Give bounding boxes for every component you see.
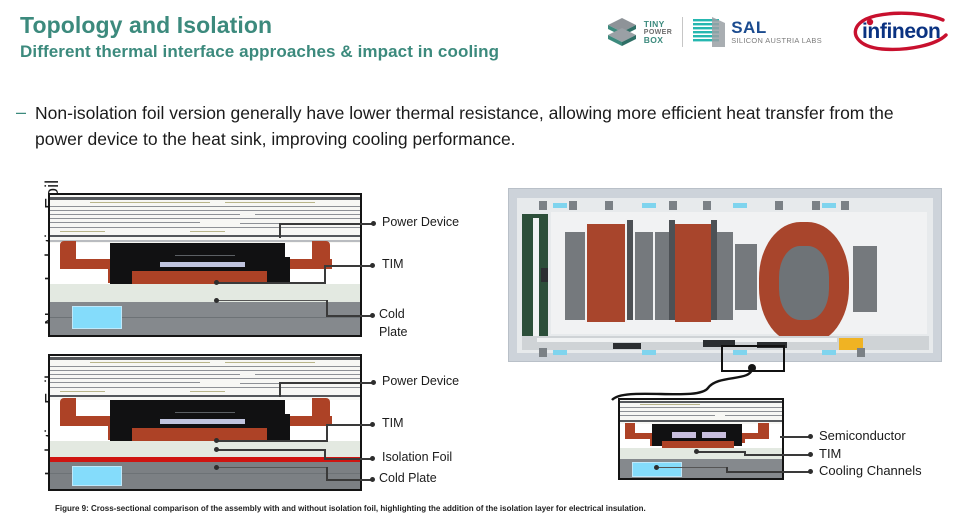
pcb-trace xyxy=(50,197,360,200)
label-cold-plate: Cold Plate xyxy=(379,471,437,486)
cross-section-non-isolation xyxy=(48,193,362,337)
label-power-device: Power Device xyxy=(382,215,459,230)
figure-isolation: Isolation Foil Pow xyxy=(0,348,500,498)
power-device-die xyxy=(265,257,290,285)
leader-line-power-device xyxy=(279,382,281,397)
pcb-trace xyxy=(50,210,360,211)
ct-marker xyxy=(642,350,656,355)
leader-dot xyxy=(694,449,699,454)
tpb-line-3: BOX xyxy=(644,36,672,45)
leader-dot xyxy=(370,422,375,427)
leader-dot xyxy=(214,280,219,285)
pcb-trace xyxy=(90,202,210,203)
infineon-logo: infineon xyxy=(848,11,952,53)
internal-hairline xyxy=(175,255,235,256)
leader-line-cold-plate xyxy=(326,479,372,481)
infineon-wordmark: infineon xyxy=(862,20,940,44)
tpb-line-1: TINY xyxy=(644,20,672,29)
leader-dot xyxy=(371,221,376,226)
pcb-trace xyxy=(620,420,782,422)
pcb-trace xyxy=(50,370,360,371)
ct-fin xyxy=(853,246,877,312)
leader-dot xyxy=(214,465,219,470)
pcb-trace xyxy=(50,366,360,367)
label-plate: Plate xyxy=(379,325,408,340)
leader-line-power-device xyxy=(279,382,374,384)
figure-detail-callout: Semiconductor TIM Cooling Channels xyxy=(610,398,960,493)
pcb-trace xyxy=(620,407,782,408)
ct-marker xyxy=(822,350,836,355)
leader-dot xyxy=(808,434,813,439)
pcb-trace xyxy=(640,404,700,405)
stacked-box-icon xyxy=(605,15,639,49)
leader-dot xyxy=(214,438,219,443)
label-tim: TIM xyxy=(382,257,404,272)
pcb-trace xyxy=(620,415,715,416)
leader-line-tim xyxy=(324,265,326,284)
cooling-channel xyxy=(72,466,122,486)
label-isolation-foil: Isolation Foil xyxy=(382,450,452,465)
pcb-trace xyxy=(50,374,240,375)
page-subtitle: Different thermal interface approaches &… xyxy=(20,42,499,62)
bullet-row: – Non-isolation foil version generally h… xyxy=(16,100,946,152)
logo-bar: TINY POWER BOX SAL SILICON AUSTRIA LABS xyxy=(605,9,952,55)
power-device-die xyxy=(110,257,132,285)
ct-fin xyxy=(655,232,669,320)
ct-fin xyxy=(717,232,733,320)
pcb-trace xyxy=(620,411,782,412)
figure-non-isolation: Non- Isolation Foil xyxy=(0,175,500,340)
pcb-trace xyxy=(225,362,315,363)
page-title: Topology and Isolation xyxy=(20,12,272,39)
label-tim: TIM xyxy=(382,416,404,431)
leader-line-tim xyxy=(326,424,372,426)
pcb-trace xyxy=(190,391,225,392)
pcb-trace xyxy=(50,395,360,397)
label-cooling-channels: Cooling Channels xyxy=(819,463,922,478)
pcb-trace xyxy=(255,214,360,215)
pcb-trace xyxy=(255,374,360,375)
label-tim: TIM xyxy=(819,446,841,461)
bullet-text: Non-isolation foil version generally hav… xyxy=(35,100,946,152)
ct-scan-image xyxy=(508,188,942,362)
ct-tick xyxy=(539,201,547,210)
ct-tick xyxy=(857,348,865,357)
label-semiconductor: Semiconductor xyxy=(819,428,906,443)
leader-dot xyxy=(371,380,376,385)
ct-tick xyxy=(812,201,820,210)
ct-marker xyxy=(553,350,567,355)
internal-hairline xyxy=(175,412,235,413)
pcb-trace xyxy=(50,206,360,207)
pcb-trace xyxy=(50,222,200,223)
leader-line-cold-plate xyxy=(218,300,328,301)
pcb-trace xyxy=(190,231,225,232)
ct-tick xyxy=(569,201,577,210)
solder-layer xyxy=(672,432,696,438)
leader-line-cooling-channels xyxy=(658,467,728,468)
leader-dot xyxy=(370,313,375,318)
baseplate-copper xyxy=(662,441,734,448)
ct-tick xyxy=(703,201,711,210)
pcb-trace xyxy=(90,362,210,363)
ct-toroid-core xyxy=(779,246,829,320)
ct-marker xyxy=(733,203,747,208)
power-device-die xyxy=(265,414,290,442)
leader-line-tim xyxy=(698,451,746,453)
ct-connector xyxy=(533,218,539,336)
ct-fin xyxy=(635,232,653,320)
pcb-trace xyxy=(50,235,360,237)
sal-tagline: SILICON AUSTRIA LABS xyxy=(731,37,822,45)
leader-line-isolation-foil xyxy=(218,449,326,451)
ct-marker xyxy=(822,203,836,208)
leader-line-semiconductor xyxy=(780,436,810,438)
pcb-trace xyxy=(620,401,782,403)
leader-line-tim xyxy=(218,282,326,284)
pcb-trace xyxy=(50,378,360,379)
leader-dot xyxy=(214,298,219,303)
ct-fin xyxy=(627,220,633,320)
pcb-trace xyxy=(50,227,360,228)
leader-line-cold-plate xyxy=(326,315,372,317)
leader-dot xyxy=(370,477,375,482)
leader-dot xyxy=(370,263,375,268)
tiny-power-box-logo: TINY POWER BOX xyxy=(605,15,672,49)
leader-line-power-device xyxy=(279,223,281,238)
label-cold: Cold xyxy=(379,307,405,322)
figure-caption: Figure 9: Cross-sectional comparison of … xyxy=(55,504,646,513)
striped-bars-icon xyxy=(693,17,725,47)
logo-divider xyxy=(682,17,683,47)
leader-dot xyxy=(370,456,375,461)
bullet-marker: – xyxy=(16,100,26,152)
ct-tick xyxy=(605,201,613,210)
ct-tick xyxy=(841,201,849,210)
leader-dot xyxy=(808,452,813,457)
sal-logo: SAL SILICON AUSTRIA LABS xyxy=(693,17,822,47)
ct-chip xyxy=(541,268,548,282)
solder-layer xyxy=(160,262,245,267)
leader-dot xyxy=(654,465,659,470)
ct-tick xyxy=(775,201,783,210)
ct-fin xyxy=(565,232,585,320)
pcb-trace xyxy=(60,231,105,232)
leader-dot xyxy=(808,469,813,474)
ct-trace xyxy=(537,338,837,342)
ct-chip xyxy=(613,343,641,349)
pcb-trace xyxy=(50,357,360,360)
leader-line-tim xyxy=(744,454,810,456)
leader-line-tim xyxy=(326,424,328,442)
pcb-trace xyxy=(50,387,360,388)
leader-line-cold-plate xyxy=(218,467,328,468)
ct-marker xyxy=(553,203,567,208)
ct-tick xyxy=(669,201,677,210)
leader-line-tim xyxy=(218,440,328,442)
solder-layer xyxy=(702,432,726,438)
leader-line-power-device xyxy=(279,223,374,225)
ct-copper-winding xyxy=(587,224,625,322)
pcb-trace xyxy=(50,218,360,219)
leader-line-tim xyxy=(324,265,372,267)
leader-line-isolation-foil xyxy=(324,458,372,460)
ct-marker xyxy=(642,203,656,208)
ct-board-area xyxy=(517,198,933,353)
pcb-trace xyxy=(725,415,782,416)
sal-name: SAL xyxy=(731,19,822,37)
pcb-trace xyxy=(60,391,105,392)
label-power-device: Power Device xyxy=(382,374,459,389)
leader-dot xyxy=(214,447,219,452)
ct-fin xyxy=(735,244,757,310)
cooling-channel xyxy=(72,306,122,329)
leader-line-cooling-channels xyxy=(726,471,810,473)
pcb-trace xyxy=(50,382,200,383)
power-device-die xyxy=(110,414,132,442)
pcb-trace xyxy=(225,202,315,203)
ct-copper-winding xyxy=(675,224,711,322)
pcb-trace xyxy=(50,214,240,215)
ct-tick xyxy=(539,348,547,357)
solder-layer xyxy=(160,419,245,424)
cross-section-isolation xyxy=(48,354,362,491)
